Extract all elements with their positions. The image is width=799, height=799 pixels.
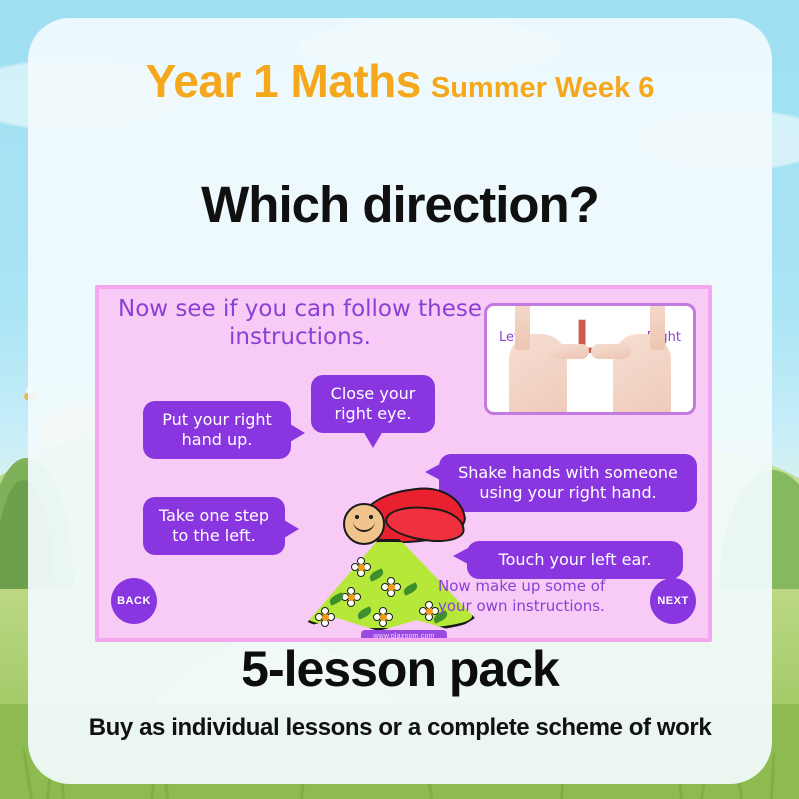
flower-icon xyxy=(341,587,361,607)
instruction-bubble: Close your right eye. xyxy=(311,375,435,433)
left-hand-icon xyxy=(509,334,567,415)
instruction-bubble: Take one step to the left. xyxy=(143,497,285,555)
slide-heading: Now see if you can follow these instruct… xyxy=(115,295,485,351)
page-title: Which direction? xyxy=(28,175,772,234)
watermark: www.plazoom.com xyxy=(361,630,447,638)
instruction-bubble: Put your right hand up. xyxy=(143,401,291,459)
flower-icon xyxy=(373,607,393,627)
slide-footnote: Now make up some of your own instruction… xyxy=(438,577,638,616)
footer-title: 5-lesson pack xyxy=(28,640,772,698)
footer-subtitle: Buy as individual lessons or a complete … xyxy=(28,714,772,742)
scene-background: Year 1 MathsSummer Week 6 Which directio… xyxy=(0,0,799,799)
next-button[interactable]: NEXT xyxy=(650,578,696,624)
flower-icon xyxy=(315,607,335,627)
lesson-slide-preview[interactable]: Now see if you can follow these instruct… xyxy=(95,285,712,642)
instruction-bubble: Touch your left ear. xyxy=(467,541,683,579)
flower-icon xyxy=(351,557,371,577)
header-main-title: Year 1 Maths xyxy=(146,55,421,107)
slide-inner: Now see if you can follow these instruct… xyxy=(99,289,708,638)
girl-eye xyxy=(369,515,373,519)
header-subtitle: Summer Week 6 xyxy=(431,72,655,104)
back-button[interactable]: BACK xyxy=(111,578,157,624)
content-card: Year 1 MathsSummer Week 6 Which directio… xyxy=(28,18,772,784)
flower-icon xyxy=(381,577,401,597)
right-hand-icon xyxy=(613,334,671,415)
girl-eye xyxy=(355,515,359,519)
hands-left-right-image: L Left Right xyxy=(484,303,696,415)
header: Year 1 MathsSummer Week 6 xyxy=(28,54,772,108)
